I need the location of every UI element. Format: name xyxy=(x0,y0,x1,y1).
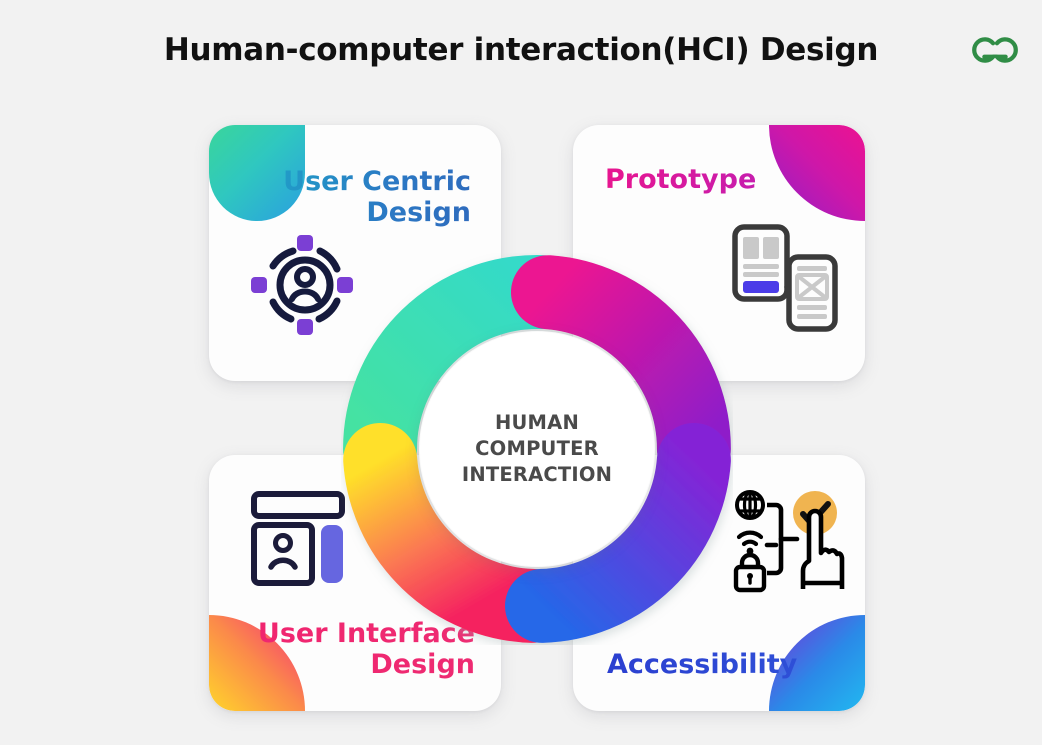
geeksforgeeks-logo xyxy=(966,28,1024,72)
phone-wireframe-flow-icon xyxy=(729,221,841,333)
infographic-canvas: Human-computer interaction(HCI) Design U… xyxy=(0,0,1042,745)
center-line-2: INTERACTION xyxy=(462,463,612,486)
page-title: Human-computer interaction(HCI) Design xyxy=(0,32,1042,68)
center-hub: HUMAN COMPUTER INTERACTION xyxy=(419,331,655,567)
card-label-accessibility: Accessibility xyxy=(607,650,827,681)
accessibility-touch-icon xyxy=(733,489,845,593)
header: Human-computer interaction(HCI) Design xyxy=(0,0,1042,100)
card-label-user-centric-design: User Centric Design xyxy=(261,167,471,229)
layout-wireframe-icon xyxy=(251,491,355,587)
center-hub-label: HUMAN COMPUTER INTERACTION xyxy=(419,410,655,489)
center-line-1: HUMAN COMPUTER xyxy=(475,411,599,460)
user-target-icon xyxy=(249,233,353,337)
card-label-prototype: Prototype xyxy=(605,165,805,196)
